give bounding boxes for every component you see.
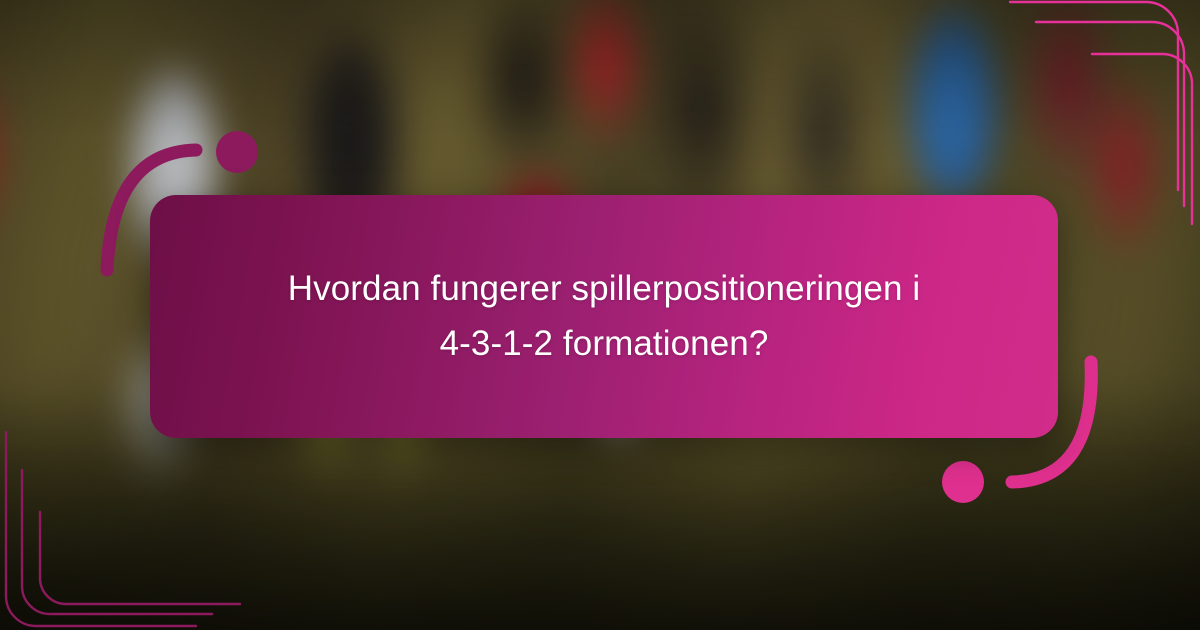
question-title: Hvordan fungerer spillerpositioneringen …	[224, 262, 984, 371]
question-card: Hvordan fungerer spillerpositioneringen …	[150, 195, 1058, 438]
screenshot-canvas: Hvordan fungerer spillerpositioneringen …	[0, 0, 1200, 630]
